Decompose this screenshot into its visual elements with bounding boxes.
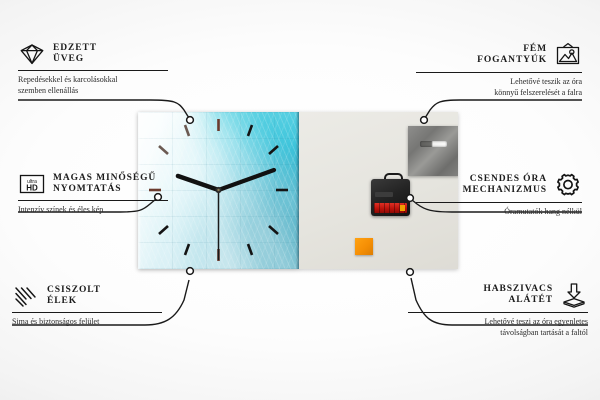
callout-rule (416, 72, 582, 73)
foam-pad (355, 238, 373, 255)
title-line-1: CSISZOLT (47, 285, 101, 297)
metal-hanger (408, 126, 458, 176)
connector-dot-foam-backing (407, 269, 414, 276)
title-line-2: NYOMTATÁS (53, 184, 156, 196)
title-line-1: FÉM (477, 44, 547, 56)
callout-title: CSISZOLT ÉLEK (47, 285, 101, 308)
title-line-1: MAGAS MINŐSÉGŰ (53, 173, 156, 185)
title-line-2: MECHANIZMUS (463, 185, 547, 197)
foam-pad-icon (560, 282, 588, 308)
title-line-1: EDZETT (53, 43, 97, 55)
mechanism-slot (375, 192, 393, 197)
clock-hands (178, 170, 274, 260)
hanger-slot (420, 141, 447, 147)
ultra-hd-badge-icon: ultra HD (18, 172, 46, 196)
callout-description: Lehetővé teszi az óra egyenletes távolsá… (408, 317, 588, 338)
callout-description: Repedésekkel és karcolásokkal szemben el… (18, 75, 168, 96)
callout-metal-handles: FÉM FOGANTYÚK Lehetővé teszik az óra kön… (416, 42, 582, 98)
diamond-icon (18, 42, 46, 66)
mechanism-body (371, 179, 410, 216)
svg-text:HD: HD (26, 184, 38, 193)
picture-hanger-icon (554, 42, 582, 68)
callout-rule (12, 312, 162, 313)
clock-mechanism (371, 173, 410, 216)
callout-description: Lehetővé teszik az óra könnyű felszerelé… (416, 77, 582, 98)
callout-head: FÉM FOGANTYÚK (416, 42, 582, 68)
callout-tempered-glass: EDZETT ÜVEG Repedésekkel és karcolásokka… (18, 42, 168, 96)
battery (374, 203, 407, 213)
callout-title: CSENDES ÓRA MECHANIZMUS (463, 174, 547, 197)
callout-silent-mechanism: CSENDES ÓRA MECHANIZMUS Óramutatók hang … (416, 172, 582, 218)
polished-edges-icon (12, 284, 40, 308)
callout-description: Sima és biztonságos felület (12, 317, 162, 328)
callout-description: Óramutatók hang nélkül (416, 207, 582, 218)
gear-icon (554, 172, 582, 198)
callout-rule (416, 202, 582, 203)
callout-head: CSENDES ÓRA MECHANIZMUS (416, 172, 582, 198)
title-line-1: CSENDES ÓRA (463, 174, 547, 186)
title-line-2: ÜVEG (53, 54, 97, 66)
infographic-canvas: EDZETT ÜVEG Repedésekkel és karcolásokka… (0, 0, 600, 400)
title-line-2: ALÁTÉT (483, 295, 553, 307)
callout-hd-print: ultra HD MAGAS MINŐSÉGŰ NYOMTATÁS Intenz… (18, 172, 168, 216)
callout-rule (408, 312, 588, 313)
callout-head: ultra HD MAGAS MINŐSÉGŰ NYOMTATÁS (18, 172, 168, 196)
callout-head: HABSZIVACS ALÁTÉT (408, 282, 588, 308)
title-line-2: FOGANTYÚK (477, 55, 547, 67)
callout-title: MAGAS MINŐSÉGŰ NYOMTATÁS (53, 173, 156, 196)
title-line-2: ÉLEK (47, 296, 101, 308)
battery-texture (374, 203, 407, 213)
callout-title: EDZETT ÜVEG (53, 43, 97, 66)
callout-polished-edges: CSISZOLT ÉLEK Sima és biztonságos felüle… (12, 284, 162, 328)
callout-rule (18, 200, 168, 201)
callout-title: FÉM FOGANTYÚK (477, 44, 547, 67)
callout-head: EDZETT ÜVEG (18, 42, 168, 66)
callout-title: HABSZIVACS ALÁTÉT (483, 284, 553, 307)
callout-rule (18, 70, 168, 71)
title-line-1: HABSZIVACS (483, 284, 553, 296)
product-image (138, 112, 458, 269)
callout-description: Intenzív színek és éles kép (18, 205, 168, 216)
callout-foam-backing: HABSZIVACS ALÁTÉT Lehetővé teszi az óra … (408, 282, 588, 338)
callout-head: CSISZOLT ÉLEK (12, 284, 162, 308)
